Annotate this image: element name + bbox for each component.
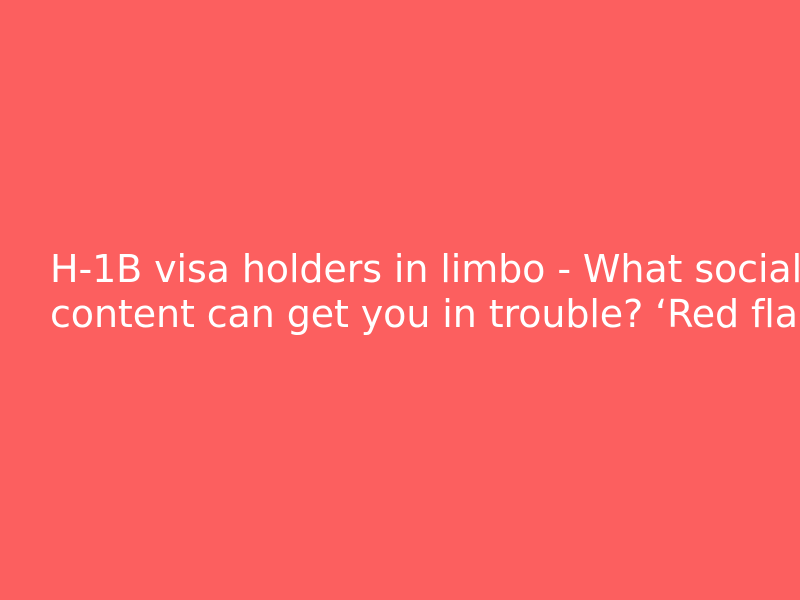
headline-text-block: H-1B visa holders in limbo - What social… (50, 247, 750, 337)
headline-line-2: content can get you in trouble? ‘Red fla… (50, 292, 750, 337)
headline-card: H-1B visa holders in limbo - What social… (0, 0, 800, 600)
headline-line-1: H-1B visa holders in limbo - What social… (50, 247, 750, 292)
